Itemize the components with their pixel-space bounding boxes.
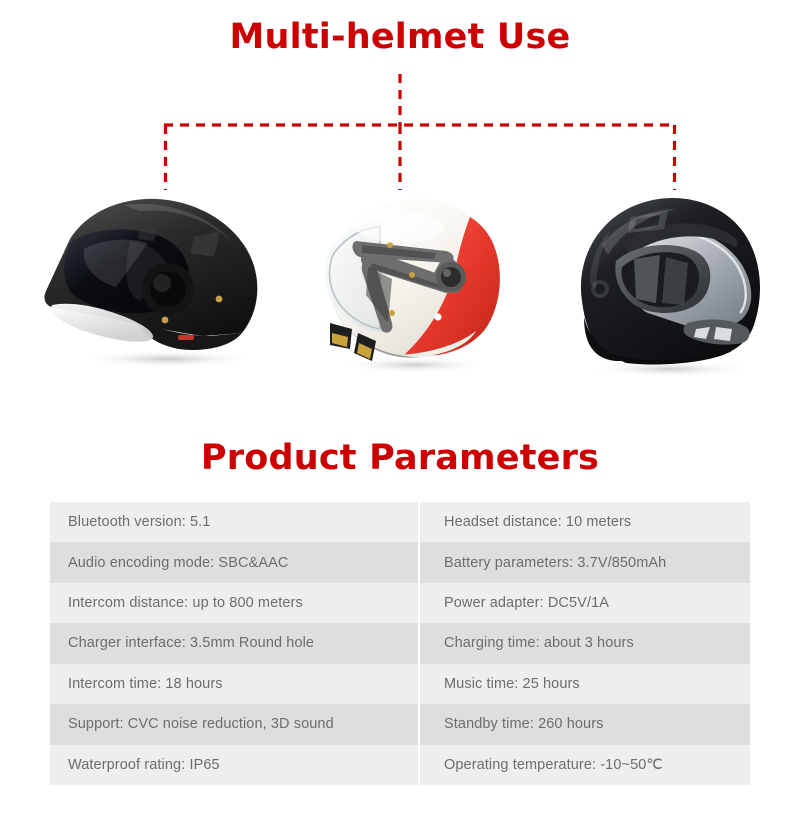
table-row: Audio encoding mode: SBC&AACBattery para… [50,542,750,582]
param-cell-right: Operating temperature: -10~50℃ [418,745,750,785]
param-cell-right: Standby time: 260 hours [418,704,750,744]
dashed-bracket-connector [0,70,800,195]
helmet-gallery [0,183,800,378]
param-cell-right: Power adapter: DC5V/1A [418,583,750,623]
param-cell-left: Charger interface: 3.5mm Round hole [50,623,418,663]
column-divider [418,745,420,785]
param-cell-right: Battery parameters: 3.7V/850mAh [418,542,750,582]
param-cell-left: Intercom time: 18 hours [50,664,418,704]
column-divider [418,704,420,744]
table-row: Support: CVC noise reduction, 3D soundSt… [50,704,750,744]
column-divider [418,502,420,542]
white-red-open-face-helmet-icon [296,183,521,378]
param-cell-left: Bluetooth version: 5.1 [50,502,418,542]
column-divider [418,664,420,704]
helmet-image-black-open-face [28,183,278,378]
param-cell-right: Charging time: about 3 hours [418,623,750,663]
param-cell-left: Intercom distance: up to 800 meters [50,583,418,623]
param-cell-left: Audio encoding mode: SBC&AAC [50,542,418,582]
column-divider [418,583,420,623]
table-row: Bluetooth version: 5.1Headset distance: … [50,502,750,542]
helmet-image-white-red-open-face [296,183,521,378]
page-title-multi-helmet-use: Multi-helmet Use [0,17,800,57]
table-row: Intercom distance: up to 800 metersPower… [50,583,750,623]
black-open-face-helmet-icon [28,183,278,378]
page-title-product-parameters: Product Parameters [0,438,800,478]
param-cell-left: Support: CVC noise reduction, 3D sound [50,704,418,744]
table-row: Waterproof rating: IP65Operating tempera… [50,745,750,785]
table-row: Charger interface: 3.5mm Round holeCharg… [50,623,750,663]
param-cell-right: Music time: 25 hours [418,664,750,704]
black-full-face-modular-helmet-icon [556,183,784,378]
param-cell-right: Headset distance: 10 meters [418,502,750,542]
column-divider [418,623,420,663]
column-divider [418,542,420,582]
dashed-bracket-icon [0,70,800,195]
helmet-image-black-full-face [556,183,784,378]
table-row: Intercom time: 18 hoursMusic time: 25 ho… [50,664,750,704]
product-parameters-table: Bluetooth version: 5.1Headset distance: … [50,502,750,785]
param-cell-left: Waterproof rating: IP65 [50,745,418,785]
